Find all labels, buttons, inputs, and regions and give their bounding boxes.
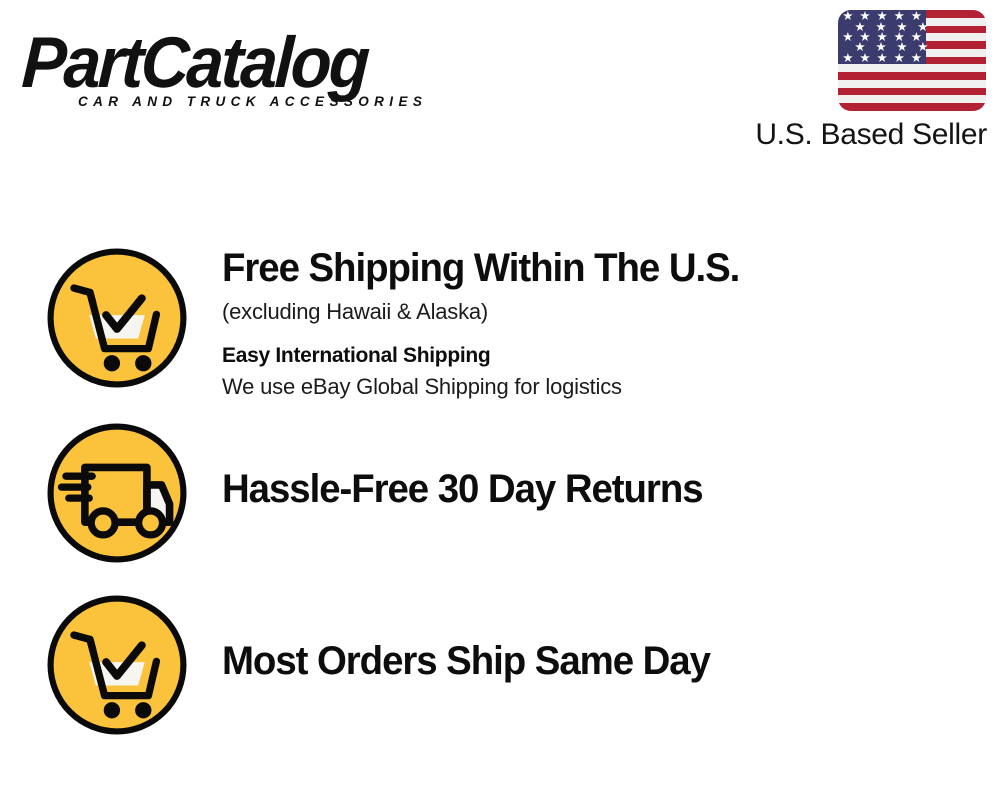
returns-heading: Hassle-Free 30 Day Returns [222, 466, 950, 512]
brand-wordmark: PartCatalog [20, 26, 461, 100]
promo-banner: PartCatalog CAR AND TRUCK ACCESSORIES ★★… [0, 0, 1000, 800]
benefit-row: Hassle-Free 30 Day Returns [0, 420, 1000, 570]
shopping-cart-check-icon [44, 592, 190, 738]
flag-stripe [838, 88, 986, 96]
flag-stripe [838, 80, 986, 88]
shopping-cart-check-icon [44, 245, 190, 391]
flag-star-icon: ★ [859, 52, 870, 65]
flag-canton: ★★★★★★★★★★★★★★★★★★★★★★★ [838, 10, 926, 64]
benefit-row: Free Shipping Within The U.S. (excluding… [0, 245, 1000, 405]
benefit-text: Hassle-Free 30 Day Returns [222, 420, 980, 512]
flag-star-icon: ★ [894, 52, 905, 65]
free-shipping-note: (excluding Hawaii & Alaska) [222, 297, 980, 327]
flag-star-icon: ★ [876, 52, 887, 65]
benefit-text: Most Orders Ship Same Day [222, 592, 980, 684]
free-shipping-heading: Free Shipping Within The U.S. [222, 245, 950, 291]
flag-star-icon: ★ [911, 52, 922, 65]
benefit-text: Free Shipping Within The U.S. (excluding… [222, 245, 980, 402]
us-flag-icon: ★★★★★★★★★★★★★★★★★★★★★★★ [838, 10, 986, 111]
flag-stripe [838, 103, 986, 111]
flag-star-icon: ★ [842, 52, 853, 65]
delivery-truck-icon [44, 420, 190, 566]
flag-star-icon: ★ [842, 10, 853, 23]
international-shipping-heading: Easy International Shipping [222, 341, 980, 371]
same-day-heading: Most Orders Ship Same Day [222, 638, 950, 684]
benefit-row: Most Orders Ship Same Day [0, 592, 1000, 742]
flag-stripe [838, 95, 986, 103]
flag-stripe [838, 64, 986, 72]
international-shipping-note: We use eBay Global Shipping for logistic… [222, 372, 980, 402]
us-based-seller-label: U.S. Based Seller [725, 117, 987, 153]
flag-star-icon: ★ [842, 31, 853, 44]
flag-stripe [838, 72, 986, 80]
brand-logo[interactable]: PartCatalog CAR AND TRUCK ACCESSORIES [22, 26, 492, 116]
